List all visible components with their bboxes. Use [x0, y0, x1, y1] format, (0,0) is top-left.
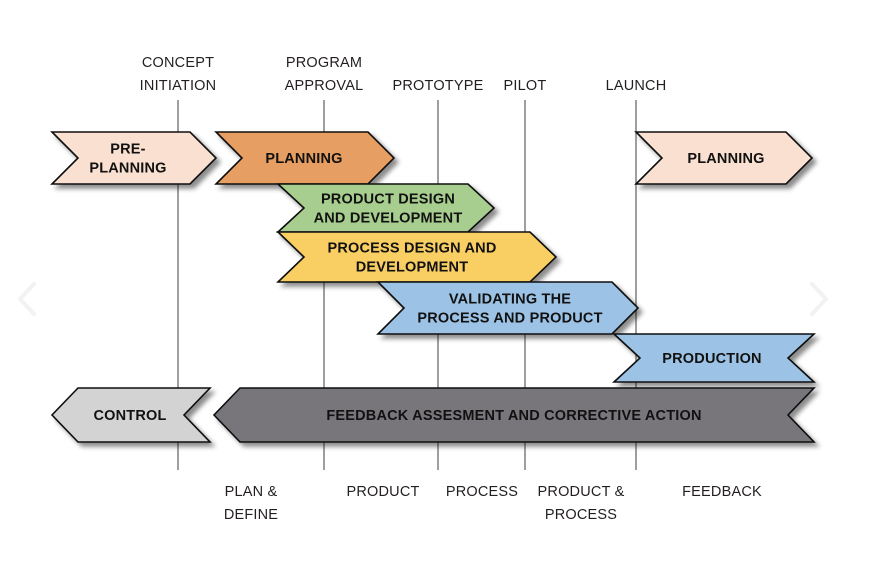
phase-label-product-process: PRODUCT &PROCESS	[538, 484, 625, 523]
band-product-design-and-development[interactable]: PRODUCT DESIGNAND DEVELOPMENT	[278, 184, 494, 232]
phase-label-product: PRODUCT	[346, 484, 419, 500]
milestone-label-pilot: PILOT	[504, 78, 547, 94]
band-feedback-assesment-and-corrective-action[interactable]: FEEDBACK ASSESMENT AND CORRECTIVE ACTION	[214, 388, 814, 442]
band-validating-the-process-and-product[interactable]: VALIDATING THEPROCESS AND PRODUCT	[378, 282, 638, 334]
phase-labels: PLAN &DEFINEPRODUCTPROCESSPRODUCT &PROCE…	[224, 484, 762, 523]
milestone-labels: CONCEPTINITIATIONPROGRAMAPPROVALPROTOTYP…	[140, 55, 667, 94]
band-label-control: CONTROL	[93, 408, 166, 424]
apqp-timeline-diagram: CONCEPTINITIATIONPROGRAMAPPROVALPROTOTYP…	[0, 0, 875, 578]
band-control[interactable]: CONTROL	[52, 388, 210, 442]
prev-chevron-icon[interactable]	[20, 284, 34, 314]
band-label-planning-main: PLANNING	[265, 151, 342, 167]
phase-label-feedback: FEEDBACK	[682, 484, 762, 500]
band-label-planning-launch: PLANNING	[687, 151, 764, 167]
diagram-canvas: CONCEPTINITIATIONPROGRAMAPPROVALPROTOTYP…	[0, 0, 875, 578]
band-label-feedback-assesment-and-corrective-action: FEEDBACK ASSESMENT AND CORRECTIVE ACTION	[326, 408, 701, 424]
phase-label-plan-and-define: PLAN &DEFINE	[224, 484, 279, 523]
milestone-label-concept-initiation: CONCEPTINITIATION	[140, 55, 217, 94]
phase-bands: PRE-PLANNINGPLANNINGPLANNINGPRODUCT DESI…	[52, 132, 814, 442]
band-pre-planning[interactable]: PRE-PLANNING	[52, 132, 216, 184]
band-label-production: PRODUCTION	[662, 351, 761, 367]
phase-label-process: PROCESS	[446, 484, 518, 500]
milestone-label-prototype: PROTOTYPE	[393, 78, 484, 94]
next-chevron-icon[interactable]	[812, 284, 826, 314]
band-planning-launch[interactable]: PLANNING	[636, 132, 812, 184]
band-production[interactable]: PRODUCTION	[614, 334, 814, 382]
milestone-label-launch: LAUNCH	[606, 78, 667, 94]
milestone-label-program-approval: PROGRAMAPPROVAL	[285, 55, 364, 94]
band-planning-main[interactable]: PLANNING	[216, 132, 394, 184]
band-process-design-and-development[interactable]: PROCESS DESIGN ANDDEVELOPMENT	[278, 232, 556, 282]
